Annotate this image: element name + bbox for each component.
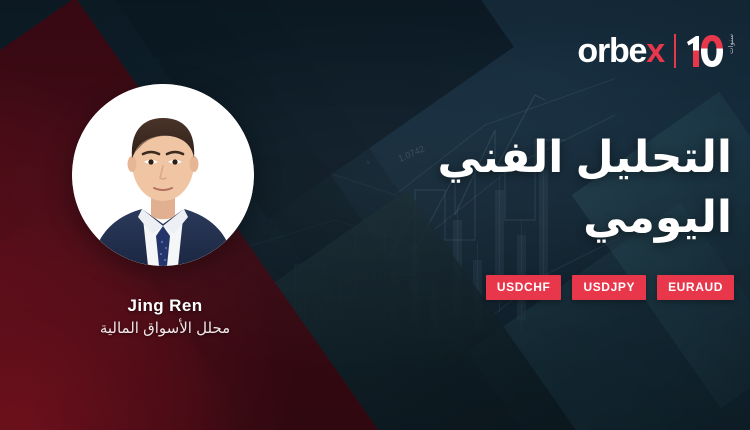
status-badge[interactable]: USDJPY (572, 275, 646, 300)
presenter-block: Jing Ren محلل الأسواق المالية (0, 296, 330, 339)
page-title: التحليل الفني اليومي (312, 128, 732, 248)
presenter-name: Jing Ren (0, 296, 330, 316)
anniversary-label: سنوات (728, 34, 736, 68)
brand-logo-text: orbe (577, 32, 646, 70)
anniversary-ten-icon (685, 33, 725, 69)
currency-pair-list: USDCHF USDJPY EURAUD (486, 275, 734, 300)
brand-logo-accent-letter: x (646, 32, 664, 70)
page-title-line1: التحليل الفني (438, 133, 732, 182)
page-title-line2: اليومي (312, 188, 732, 248)
presenter-role: محلل الأسواق المالية (0, 318, 330, 339)
brand-logo-divider (674, 34, 676, 68)
brand-logo[interactable]: orbex سنوات (577, 33, 736, 69)
avatar (72, 84, 254, 266)
status-badge[interactable]: USDCHF (486, 275, 562, 300)
status-badge[interactable]: EURAUD (657, 275, 734, 300)
brand-logo-wordmark: orbex (577, 34, 664, 68)
promo-banner: 1.0742 + (0, 0, 750, 430)
